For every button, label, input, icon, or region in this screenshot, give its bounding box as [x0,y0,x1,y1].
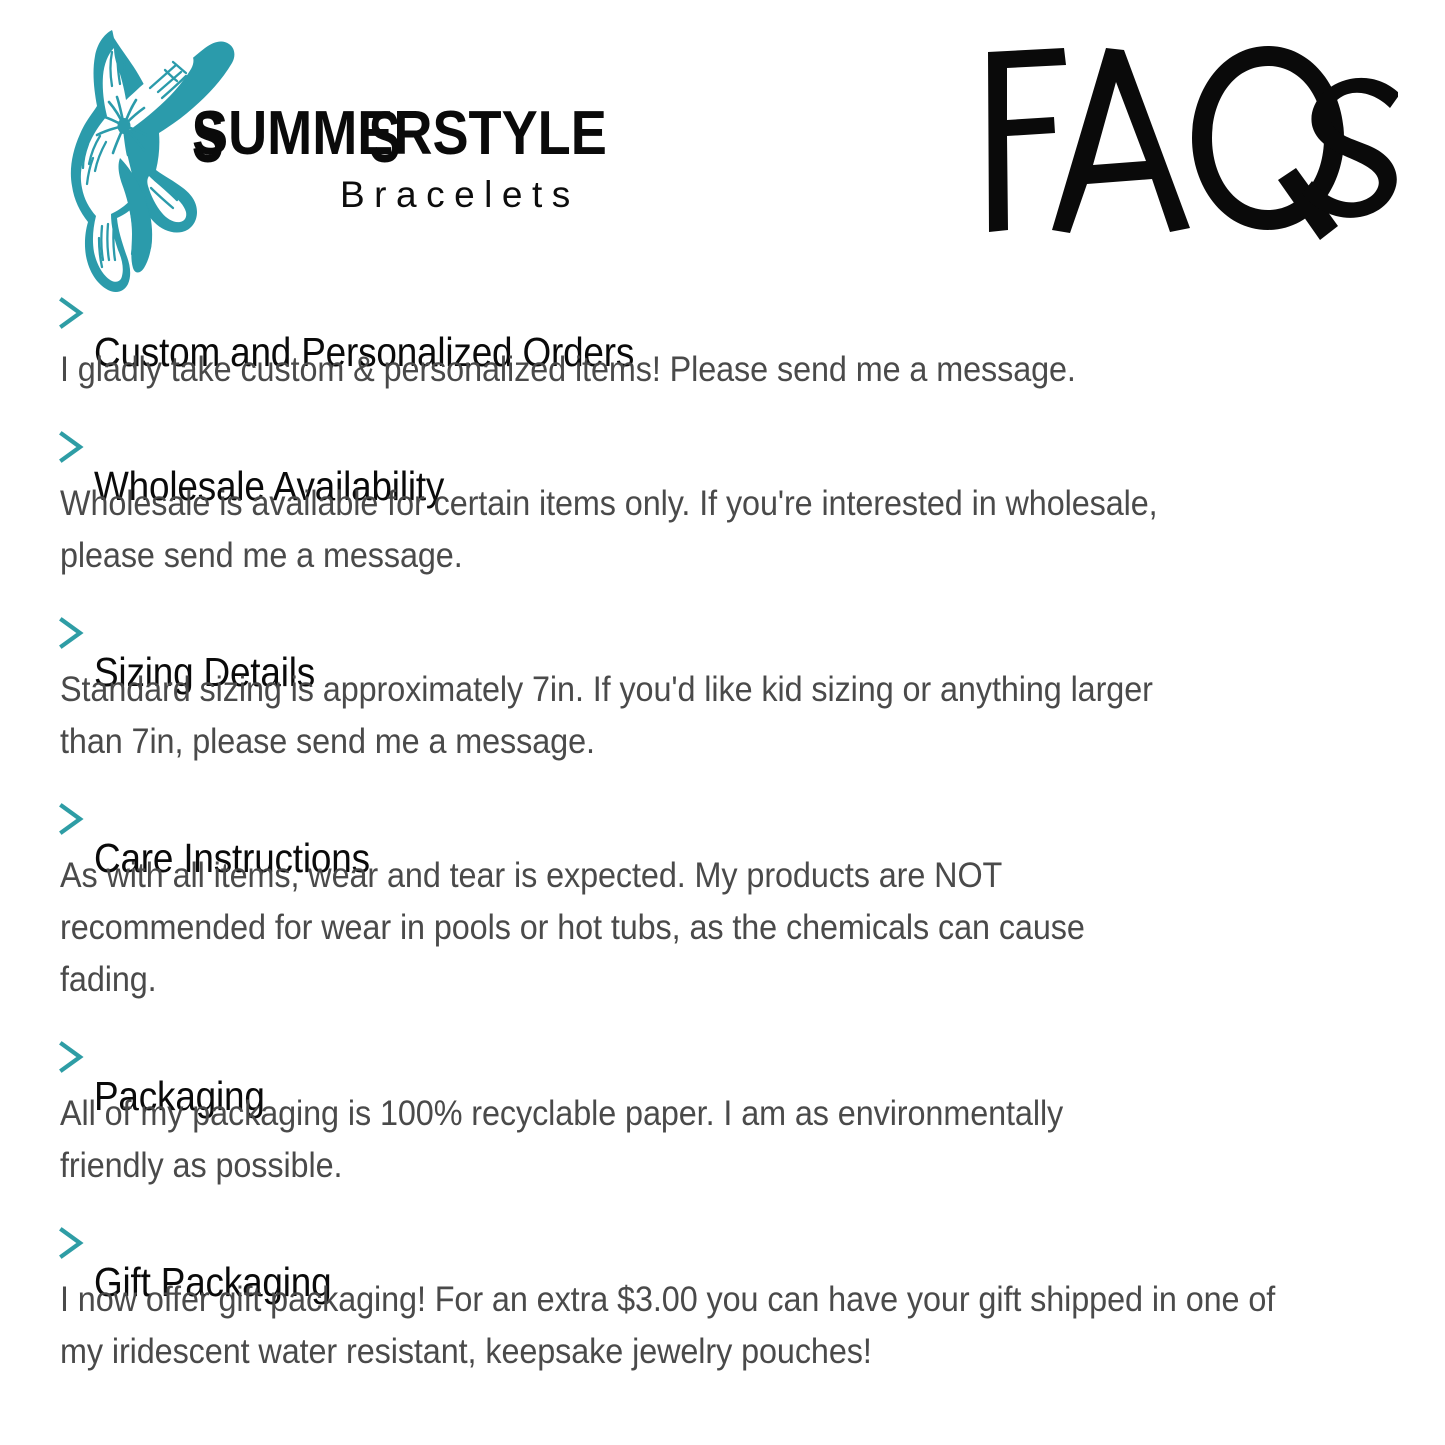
svg-text:S: S [369,97,401,168]
faq-body: As with all items, wear and tear is expe… [60,850,1152,1006]
svg-text:S: S [192,97,224,168]
faq-section-packaging[interactable]: Packaging All of my packaging is 100% re… [0,1040,1445,1192]
faq-section-gift-packaging[interactable]: Gift Packaging I now offer gift packagin… [0,1226,1445,1378]
faq-section-care[interactable]: Care Instructions As with all items, wea… [0,802,1445,1006]
faq-heading-row[interactable]: Gift Packaging [58,1226,1445,1274]
faq-section-custom-orders[interactable]: Custom and Personalized Orders I gladly … [0,296,1445,396]
faq-body: All of my packaging is 100% recyclable p… [60,1088,1152,1192]
brand-wordmark: SUMMERSTYLE S S Bracelets [192,96,612,246]
faq-body: Wholesale is available for certain items… [60,478,1193,582]
brand-name-primary: SUMMERSTYLE S S [192,96,612,168]
faq-heading-row[interactable]: Packaging [58,1040,1445,1088]
faq-heading-row[interactable]: Sizing Details [58,616,1445,664]
brand-name-secondary: Bracelets [340,176,580,213]
chevron-right-icon [58,430,85,464]
chevron-right-icon [58,1040,85,1074]
chevron-right-icon [58,616,85,650]
faq-heading-row[interactable]: Custom and Personalized Orders [58,296,1445,344]
faq-section-wholesale[interactable]: Wholesale Availability Wholesale is avai… [0,430,1445,582]
faq-body: Standard sizing is approximately 7in. If… [60,664,1193,768]
faq-body: I gladly take custom & personalized item… [60,344,1300,396]
faq-heading-row[interactable]: Wholesale Availability [58,430,1445,478]
brand-logo: SUMMERSTYLE S S Bracelets [52,18,612,298]
chevron-right-icon [58,296,85,330]
faq-section-sizing[interactable]: Sizing Details Standard sizing is approx… [0,616,1445,768]
page-title [978,34,1398,249]
faq-list: Custom and Personalized Orders I gladly … [0,296,1445,1378]
faq-heading-row[interactable]: Care Instructions [58,802,1445,850]
faq-body: I now offer gift packaging! For an extra… [60,1274,1300,1378]
chevron-right-icon [58,1226,85,1260]
page-header: SUMMERSTYLE S S Bracelets [0,0,1445,300]
chevron-right-icon [58,802,85,836]
